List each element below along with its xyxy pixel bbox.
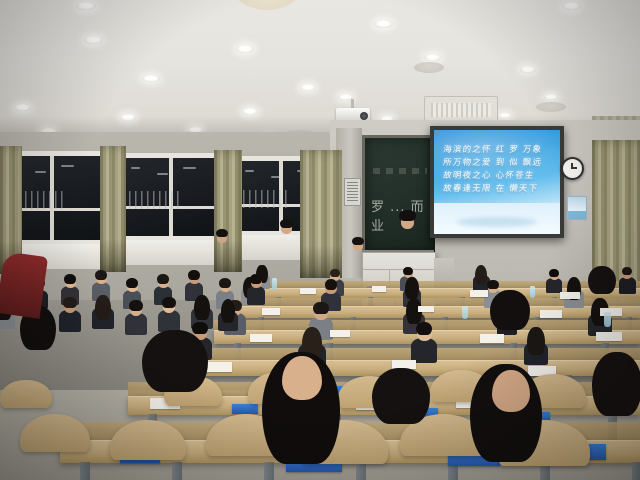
recessed-downlight — [76, 2, 96, 10]
distant-window-light — [183, 167, 196, 169]
audience-hair — [140, 271, 155, 295]
audience-hair — [192, 322, 207, 334]
paper-sheet — [560, 292, 580, 299]
audience-hair — [221, 299, 236, 323]
recessed-downlight — [520, 66, 536, 73]
poem-line: 海滨的之怀 红 罗 万象 — [442, 144, 552, 157]
paper-sheet — [300, 288, 316, 294]
audience-hair — [359, 267, 370, 276]
audience-hair — [550, 322, 566, 335]
audience-hair — [250, 274, 262, 284]
foreground-student-sleeve — [0, 251, 48, 319]
audience-hair — [330, 269, 341, 278]
audience-hair — [416, 322, 432, 335]
audience-hair — [393, 327, 410, 355]
paper-sheet — [540, 310, 562, 318]
curtain — [100, 146, 126, 272]
curtain — [214, 150, 242, 272]
audience-hair — [616, 279, 629, 289]
chair-back — [0, 380, 52, 408]
audience-hair — [213, 327, 232, 357]
audience-hair — [95, 270, 107, 280]
audience-hair — [271, 267, 282, 276]
audience-hair — [313, 302, 328, 314]
audience-hair — [390, 280, 401, 289]
recessed-downlight — [562, 2, 581, 10]
slide-poem-text: 海滨的之怀 红 罗 万象 所万物之爱 到 似 飘远 故明夜之心 心怀苍生 故春逢… — [443, 144, 551, 196]
audience-hair — [389, 302, 402, 313]
audience-hair — [527, 327, 544, 355]
audience-hair — [325, 279, 338, 289]
round-ceiling-vent-icon — [536, 102, 566, 112]
audience-torso — [323, 337, 347, 361]
foreground-student-hair — [142, 330, 208, 392]
poem-line: 故明夜之心 心怀苍生 — [442, 170, 552, 183]
round-ceiling-vent-icon — [414, 62, 444, 73]
paper-sheet — [372, 286, 386, 292]
audience-hair — [578, 267, 588, 275]
desk-leg — [172, 462, 182, 480]
staff-hair — [216, 229, 228, 237]
audience-hair — [109, 275, 124, 299]
audience-hair — [371, 322, 388, 336]
recessed-downlight — [14, 104, 31, 111]
distant-window-light — [35, 171, 46, 173]
distant-window-light — [245, 170, 254, 172]
audience-hair — [348, 327, 367, 357]
audience-hair — [444, 299, 459, 323]
desk-leg — [264, 462, 274, 480]
audience-hair — [534, 267, 545, 276]
audience-hair — [417, 269, 428, 278]
audience-hair — [549, 269, 559, 277]
green-shirt-hair — [588, 266, 616, 294]
wall-clock-icon — [561, 157, 584, 180]
audience-torso — [231, 338, 258, 365]
student-denim-head — [492, 370, 530, 412]
recessed-downlight — [236, 45, 254, 53]
audience-hair — [64, 274, 76, 284]
audience-hair — [240, 302, 254, 313]
blackboard: 罗 ... 而业 — [362, 135, 435, 256]
audience-hair — [535, 277, 548, 298]
paper-sheet — [262, 308, 280, 315]
curtain — [300, 150, 342, 278]
recessed-downlight — [84, 36, 103, 44]
audience-hair — [357, 279, 369, 289]
distant-window-light — [157, 173, 168, 175]
projection-screen: 海滨的之怀 红 罗 万象 所万物之爱 到 似 飘远 故明夜之心 心怀苍生 故春逢… — [430, 126, 564, 238]
audience-hair — [438, 277, 451, 298]
paper-sheet — [470, 290, 488, 297]
standing-man-hair — [280, 219, 293, 228]
attendee-hair — [352, 237, 364, 245]
audience-hair — [436, 327, 456, 359]
recessed-downlight — [374, 20, 393, 28]
paper-sheet — [330, 330, 350, 337]
poem-line: 故春逢无限 在 懒天下 — [442, 183, 552, 196]
audience-hair — [294, 298, 310, 324]
audience-hair — [157, 274, 169, 284]
audience-hair — [403, 267, 413, 275]
audience-torso — [457, 337, 481, 361]
audience-hair — [571, 327, 591, 359]
paper-sheet — [418, 306, 434, 312]
audience-hair — [188, 270, 200, 280]
audience-torso — [366, 338, 393, 365]
distant-window-light — [131, 167, 140, 169]
striped-jacket-hair — [490, 290, 530, 330]
poem-line: 所万物之爱 到 似 飘远 — [442, 157, 552, 170]
audience-hair — [126, 278, 138, 288]
audience-hair — [219, 278, 231, 288]
audience-hair — [622, 267, 633, 276]
recessed-downlight — [142, 75, 160, 82]
audience-hair — [178, 300, 193, 312]
speaker-hair — [399, 210, 416, 221]
audience-hair — [487, 280, 498, 289]
recessed-downlight — [424, 54, 441, 61]
audience-hair — [422, 279, 435, 289]
audience-hair — [574, 302, 588, 313]
audience-hair — [461, 322, 476, 334]
distant-window-light — [61, 165, 74, 167]
audience-hair — [332, 299, 347, 323]
audience-hair — [491, 267, 501, 275]
desk-leg — [356, 462, 366, 480]
audience-hair — [374, 269, 384, 277]
audience-hair — [316, 267, 326, 275]
recessed-downlight — [120, 114, 136, 121]
paper-sheet — [206, 362, 232, 372]
recessed-downlight — [300, 84, 316, 91]
paper-sheet — [596, 332, 622, 341]
audience-hair — [78, 279, 93, 303]
distant-window-light — [271, 176, 282, 178]
audience-hair — [351, 302, 365, 313]
audience-hair — [552, 279, 564, 289]
pendant-light-fixture — [232, 0, 302, 10]
water-bottle — [530, 286, 535, 298]
audience-hair — [341, 277, 354, 298]
recessed-downlight — [242, 108, 258, 115]
student-center-head — [282, 356, 322, 400]
audience-hair — [455, 279, 467, 289]
window — [118, 152, 224, 264]
student-right-edge-hair — [592, 352, 640, 416]
audience-hair — [233, 271, 248, 295]
recessed-downlight — [498, 113, 511, 118]
audience-hair — [112, 297, 127, 309]
audience-hair — [63, 297, 77, 308]
recessed-downlight — [544, 94, 558, 100]
wall-notice — [344, 178, 361, 206]
window-sill — [119, 240, 225, 265]
audience-hair — [462, 269, 472, 277]
desk-leg — [632, 462, 640, 480]
audience-hair — [405, 277, 419, 299]
desk-leg — [80, 462, 90, 480]
audience-hair — [286, 269, 296, 277]
paper-sheet — [480, 334, 504, 343]
wall-poster — [567, 196, 587, 220]
student-navy-hair — [372, 368, 430, 424]
audience-hair — [162, 297, 176, 308]
lecture-hall-photo: 罗 ... 而业 海滨的之怀 红 罗 万象 所万物之爱 到 似 飘远 故明夜之心… — [0, 0, 640, 480]
water-bottle — [604, 312, 611, 327]
audience-hair — [47, 271, 62, 295]
paper-sheet — [250, 334, 272, 342]
water-bottle — [462, 306, 468, 319]
audience-hair — [446, 267, 457, 276]
handout-booklet — [232, 404, 258, 414]
audience-hair — [129, 300, 143, 311]
audience-hair — [79, 300, 94, 312]
water-bottle — [272, 278, 277, 290]
audience-hair — [282, 322, 298, 335]
